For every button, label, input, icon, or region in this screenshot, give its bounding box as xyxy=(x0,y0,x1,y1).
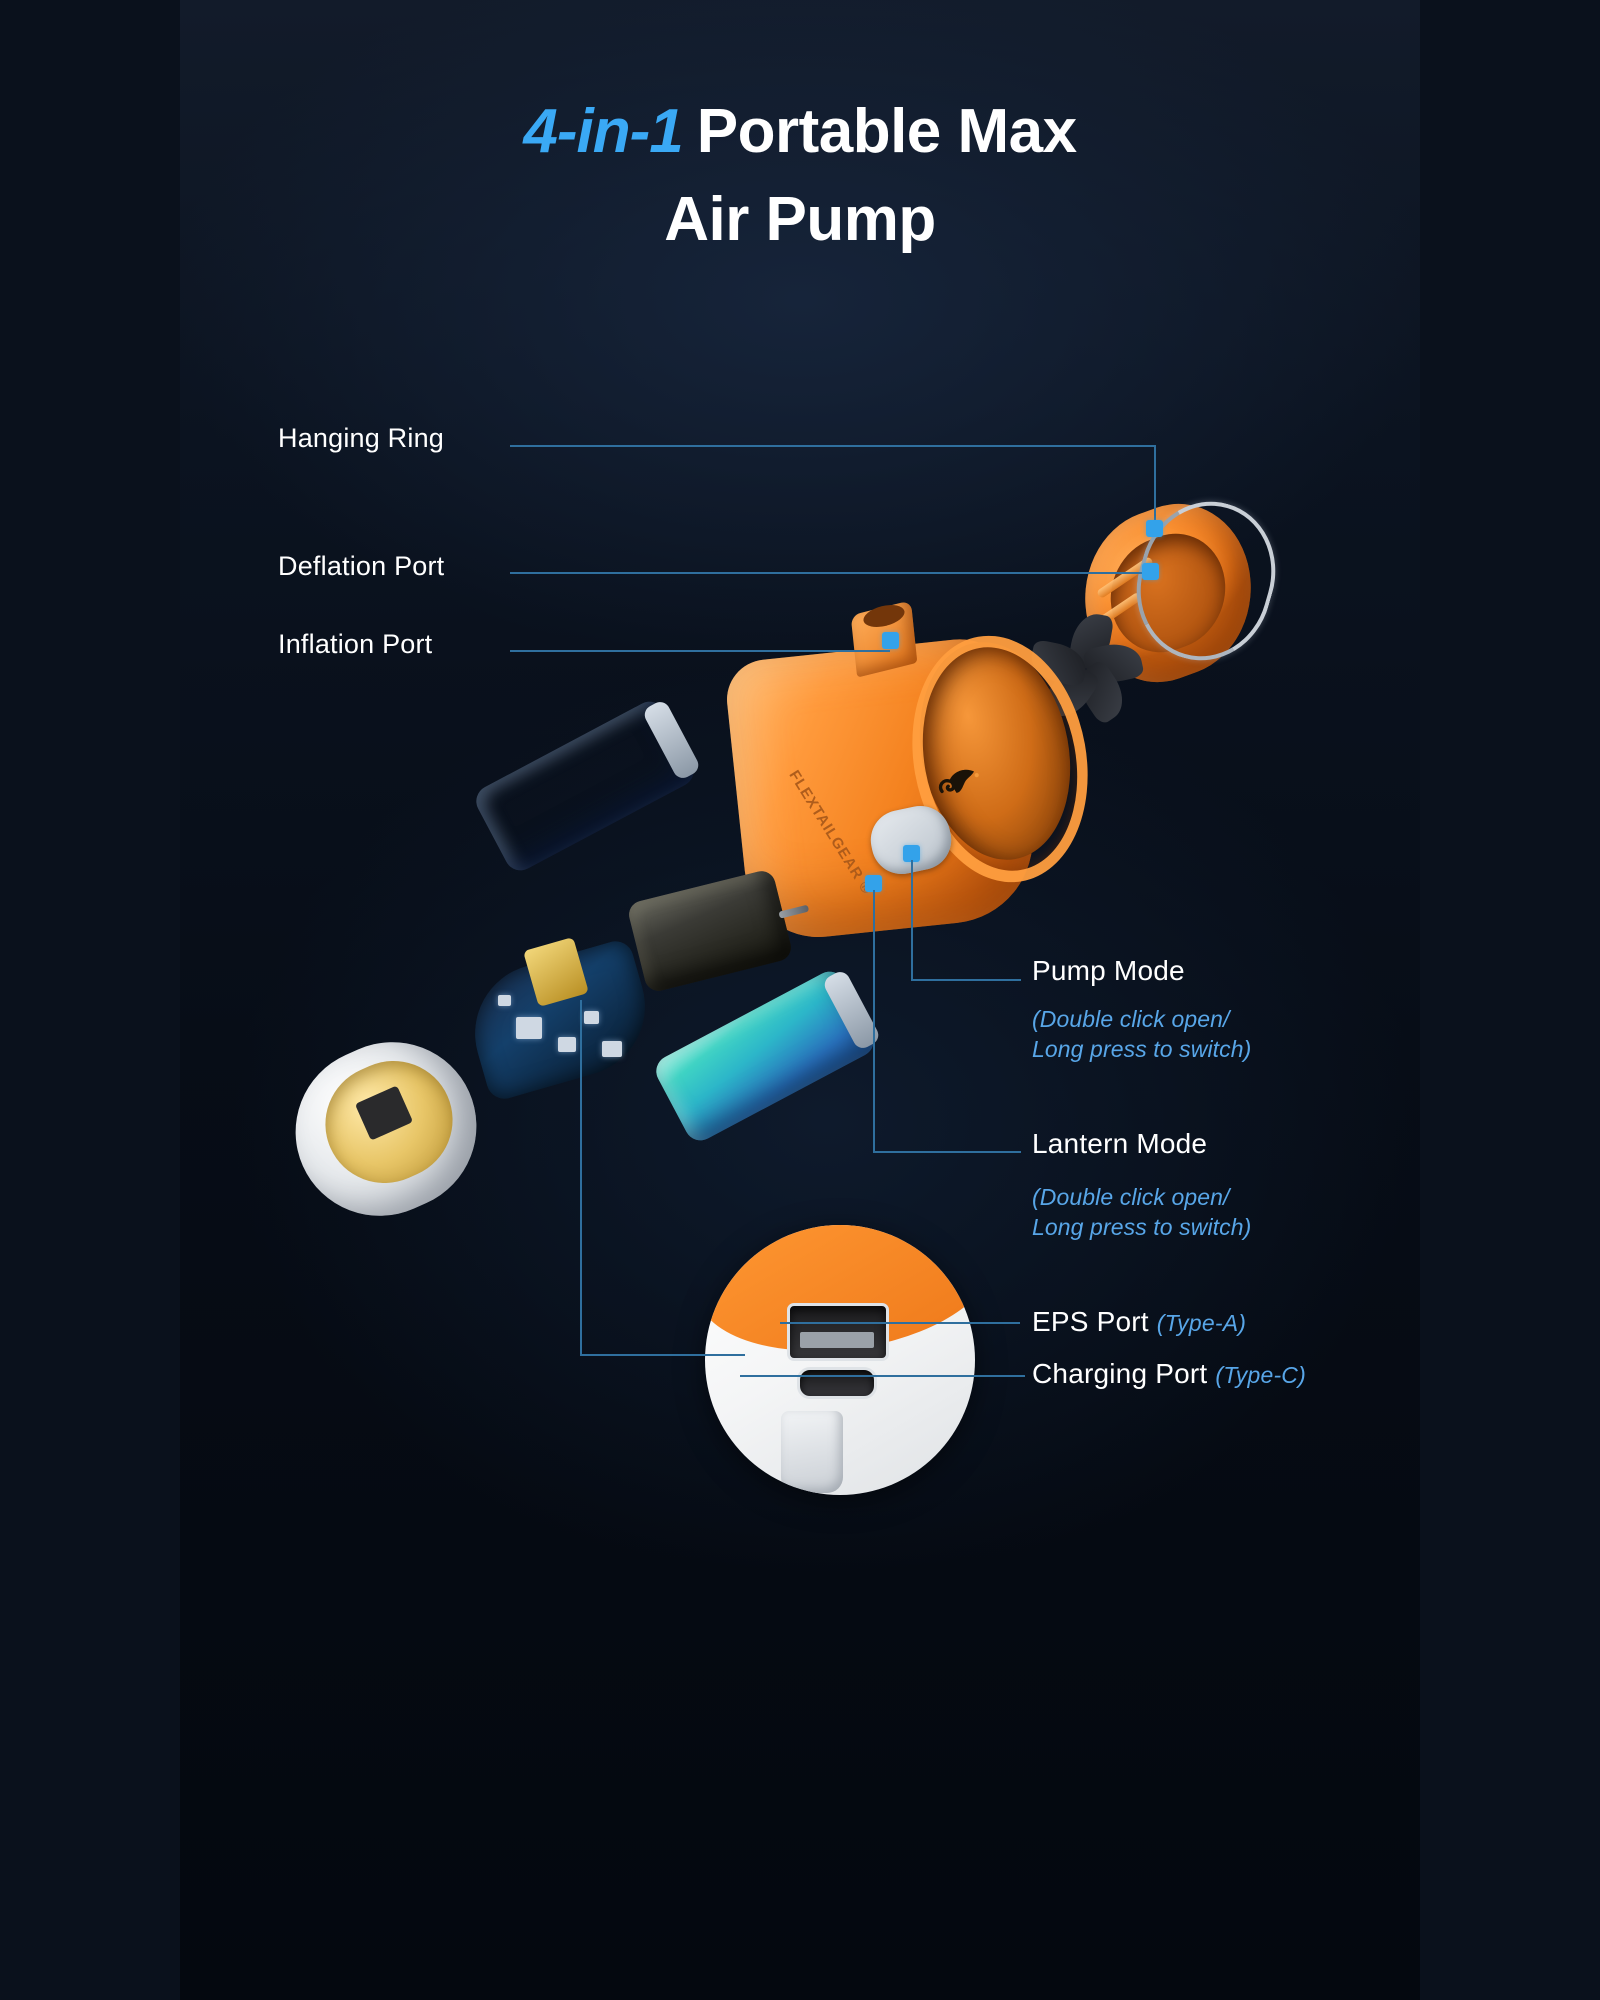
pcb-chip xyxy=(602,1041,622,1057)
leader-charging-port xyxy=(740,1375,1025,1377)
pcb-chip xyxy=(498,995,511,1006)
leader-pump-mode-vertical xyxy=(911,860,913,980)
leader-pcb-vertical xyxy=(580,1000,582,1355)
label-charging-port: Charging Port(Type-C) xyxy=(1032,1358,1306,1390)
leader-hanging-ring-horizontal xyxy=(510,445,1155,447)
label-charging-port-text: Charging Port xyxy=(1032,1358,1207,1389)
label-inflation-port: Inflation Port xyxy=(278,629,432,660)
title-line-1: 4-in-1Portable Max xyxy=(180,88,1420,176)
part-port-detail-circle xyxy=(705,1225,975,1495)
title-main: Portable Max xyxy=(697,97,1077,166)
note-lantern-mode-line2: Long press to switch) xyxy=(1032,1213,1251,1243)
label-charging-port-suffix: (Type-C) xyxy=(1215,1362,1306,1388)
label-eps-port-suffix: (Type-A) xyxy=(1157,1310,1246,1336)
label-eps-port-text: EPS Port xyxy=(1032,1306,1149,1337)
marker-hanging-ring xyxy=(1146,520,1163,537)
usb-a-tongue xyxy=(800,1332,874,1348)
product-infographic: 4-in-1Portable Max Air Pump FLEXTAILGEAR… xyxy=(180,0,1420,2000)
port-cover-flap xyxy=(781,1411,843,1493)
eps-port-usb-a xyxy=(787,1303,889,1361)
label-pump-mode: Pump Mode xyxy=(1032,955,1185,987)
note-pump-mode-line1: (Double click open/ xyxy=(1032,1005,1230,1035)
leader-lantern-mode-horizontal xyxy=(873,1151,1021,1153)
marker-inflation-port xyxy=(882,632,899,649)
charging-port-usb-c xyxy=(797,1367,877,1399)
marker-deflation-port xyxy=(1142,563,1159,580)
leader-deflation-port xyxy=(510,572,1150,574)
part-circuit-board xyxy=(472,945,662,1095)
leader-inflation-port xyxy=(510,650,890,652)
part-battery-cell-teal xyxy=(651,966,880,1146)
leader-pcb-horizontal xyxy=(580,1354,745,1356)
leader-hanging-ring-vertical xyxy=(1154,445,1156,530)
label-eps-port: EPS Port(Type-A) xyxy=(1032,1306,1246,1338)
pcb-chip xyxy=(584,1011,599,1024)
title-badge: 4-in-1 xyxy=(523,97,682,166)
label-hanging-ring: Hanging Ring xyxy=(278,423,444,454)
label-deflation-port: Deflation Port xyxy=(278,551,444,582)
note-lantern-mode-line1: (Double click open/ xyxy=(1032,1183,1230,1213)
label-lantern-mode: Lantern Mode xyxy=(1032,1128,1207,1160)
leader-eps-port xyxy=(780,1322,1020,1324)
note-pump-mode-line2: Long press to switch) xyxy=(1032,1035,1251,1065)
part-bottom-end-cap xyxy=(295,1035,495,1220)
part-battery-cell-blue xyxy=(471,696,700,876)
leader-pump-mode-horizontal xyxy=(911,979,1021,981)
pcb-chip xyxy=(558,1037,576,1052)
page-title: 4-in-1Portable Max Air Pump xyxy=(180,88,1420,264)
leader-lantern-mode-vertical xyxy=(873,890,875,1152)
pcb-chip xyxy=(516,1017,542,1039)
title-line-2: Air Pump xyxy=(180,176,1420,264)
battery-terminal xyxy=(641,699,702,782)
